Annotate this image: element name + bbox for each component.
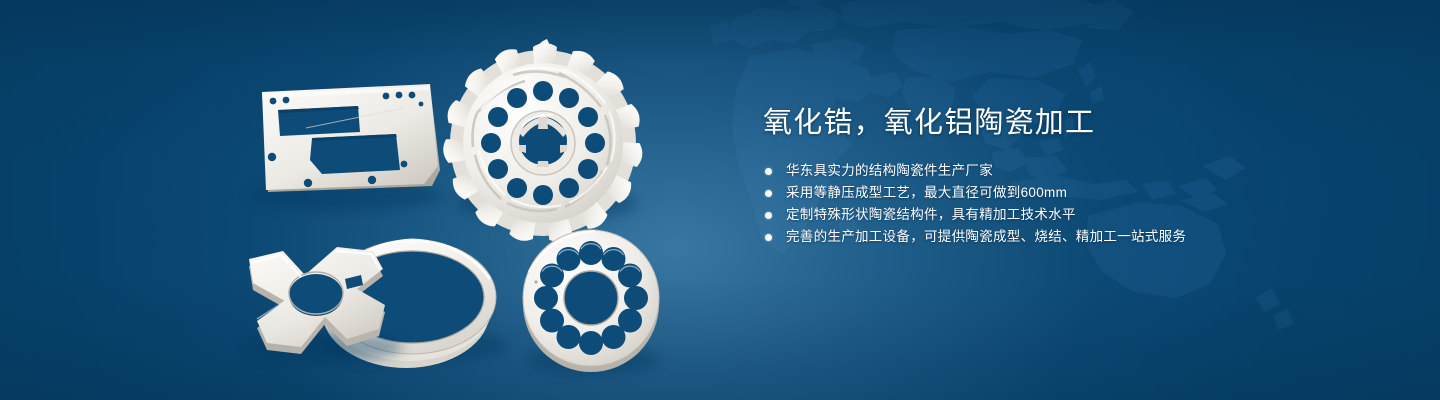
feature-item-3: 定制特殊形状陶瓷结构件，具有精加工技术水平 xyxy=(763,204,1383,226)
feature-item-3-label: 定制特殊形状陶瓷结构件，具有精加工技术水平 xyxy=(786,207,1076,222)
bullet-dot-icon xyxy=(765,234,772,241)
feature-item-2-label: 采用等静压成型工艺，最大直径可做到600mm xyxy=(786,185,1067,200)
banner-feature-list: 华东具实力的结构陶瓷件生产厂家 采用等静压成型工艺，最大直径可做到600mm 定… xyxy=(763,160,1383,248)
bullet-dot-icon xyxy=(765,168,772,175)
banner-text-block: 氧化锆，氧化铝陶瓷加工 华东具实力的结构陶瓷件生产厂家 采用等静压成型工艺，最大… xyxy=(763,106,1383,248)
feature-item-2: 采用等静压成型工艺，最大直径可做到600mm xyxy=(763,182,1383,204)
feature-item-4: 完善的生产加工设备，可提供陶瓷成型、烧结、精加工一站式服务 xyxy=(763,226,1383,248)
feature-item-1-label: 华东具实力的结构陶瓷件生产厂家 xyxy=(786,163,993,178)
feature-item-1: 华东具实力的结构陶瓷件生产厂家 xyxy=(763,160,1383,182)
bullet-dot-icon xyxy=(765,212,772,219)
bullet-dot-icon xyxy=(765,190,772,197)
promo-banner: 氧化锆，氧化铝陶瓷加工 华东具实力的结构陶瓷件生产厂家 采用等静压成型工艺，最大… xyxy=(0,0,1440,400)
feature-item-4-label: 完善的生产加工设备，可提供陶瓷成型、烧结、精加工一站式服务 xyxy=(786,229,1186,244)
banner-headline: 氧化锆，氧化铝陶瓷加工 xyxy=(763,106,1383,140)
